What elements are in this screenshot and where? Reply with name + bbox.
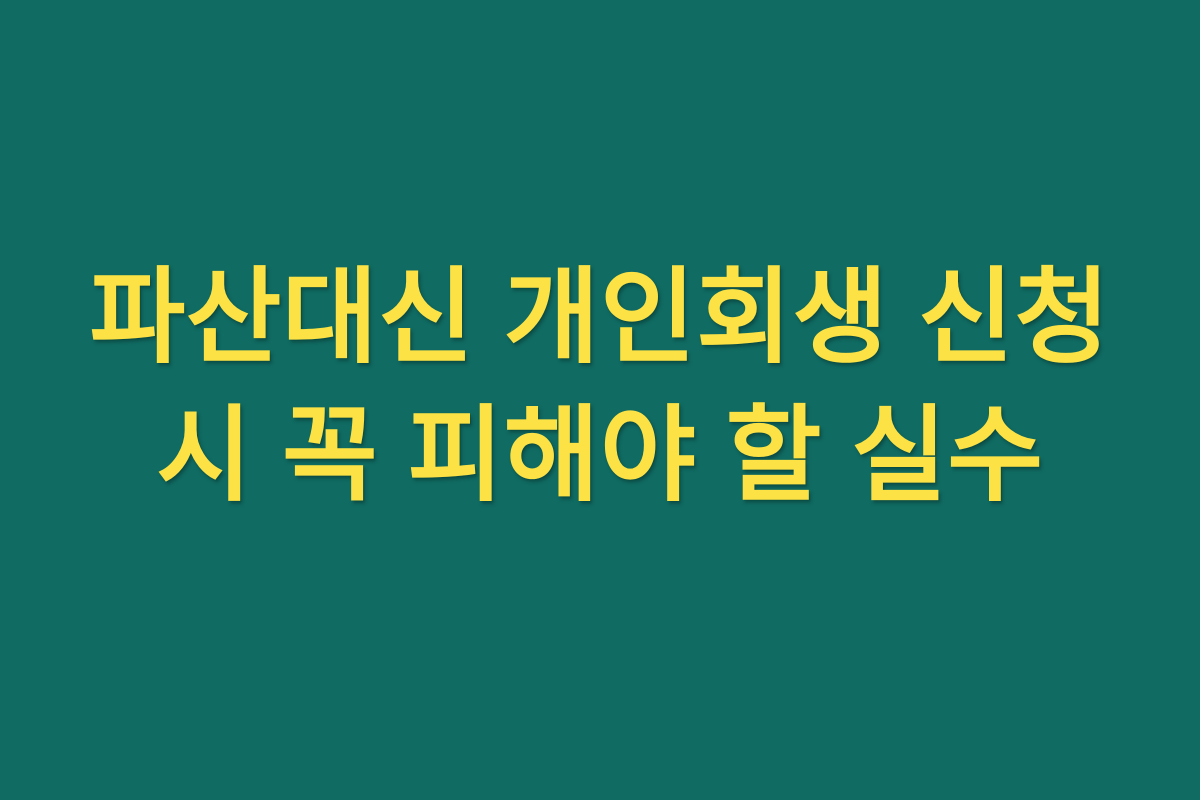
banner-canvas: 파산대신 개인회생 신청 시 꼭 피해야 할 실수 bbox=[0, 0, 1200, 800]
headline-line-1: 파산대신 개인회생 신청 bbox=[40, 249, 1160, 387]
headline-line-2: 시 꼭 피해야 할 실수 bbox=[40, 387, 1160, 525]
headline-block: 파산대신 개인회생 신청 시 꼭 피해야 할 실수 bbox=[0, 249, 1200, 526]
